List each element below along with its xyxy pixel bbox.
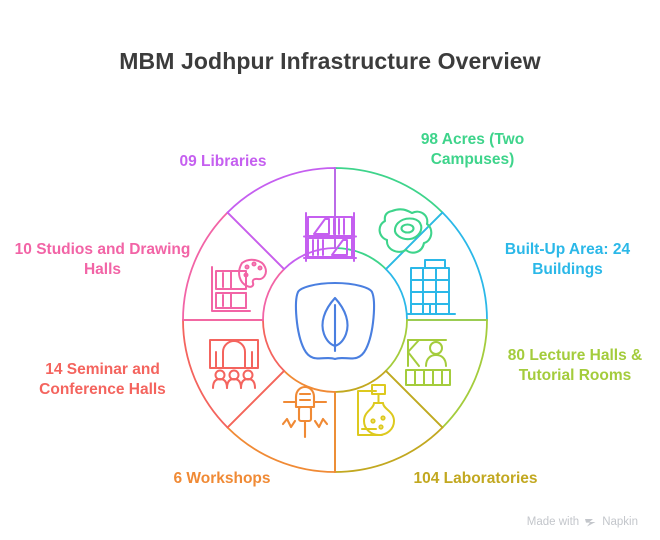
page-title: MBM Jodhpur Infrastructure Overview bbox=[0, 48, 660, 75]
napkin-brand-label: Napkin bbox=[602, 516, 638, 528]
lecture-presenter-icon bbox=[406, 340, 450, 385]
label-workshops: 6 Workshops bbox=[132, 469, 312, 489]
office-building-icon bbox=[407, 260, 455, 314]
label-libraries: 09 Libraries bbox=[128, 152, 318, 172]
wheel-svg bbox=[180, 165, 490, 475]
conference-audience-icon bbox=[210, 340, 258, 388]
segment-seminar-halls[interactable] bbox=[183, 320, 284, 427]
drawing-palette-icon bbox=[212, 260, 266, 311]
napkin-watermark: Made with Napkin bbox=[527, 515, 638, 528]
infographic-wheel bbox=[180, 165, 490, 475]
napkin-logo-icon bbox=[584, 515, 597, 528]
label-seminar-halls: 14 Seminar and Conference Halls bbox=[10, 360, 195, 400]
label-studios: 10 Studios and Drawing Halls bbox=[10, 240, 195, 280]
segment-studios[interactable] bbox=[183, 213, 284, 320]
shield-leaf-icon bbox=[296, 283, 374, 359]
segment-laboratories[interactable] bbox=[335, 371, 442, 472]
label-laboratories: 104 Laboratories bbox=[378, 469, 573, 489]
label-built-up-area: Built-Up Area: 24 Buildings bbox=[480, 240, 655, 280]
jackhammer-icon bbox=[283, 387, 327, 437]
segment-lecture-halls[interactable] bbox=[386, 320, 487, 427]
made-with-label: Made with bbox=[527, 516, 579, 528]
bookshelf-icon bbox=[304, 213, 356, 261]
label-acres: 98 Acres (Two Campuses) bbox=[385, 130, 560, 170]
segment-workshops[interactable] bbox=[228, 371, 335, 472]
label-lecture-halls: 80 Lecture Halls & Tutorial Rooms bbox=[495, 346, 655, 386]
lab-flask-icon bbox=[358, 385, 394, 435]
